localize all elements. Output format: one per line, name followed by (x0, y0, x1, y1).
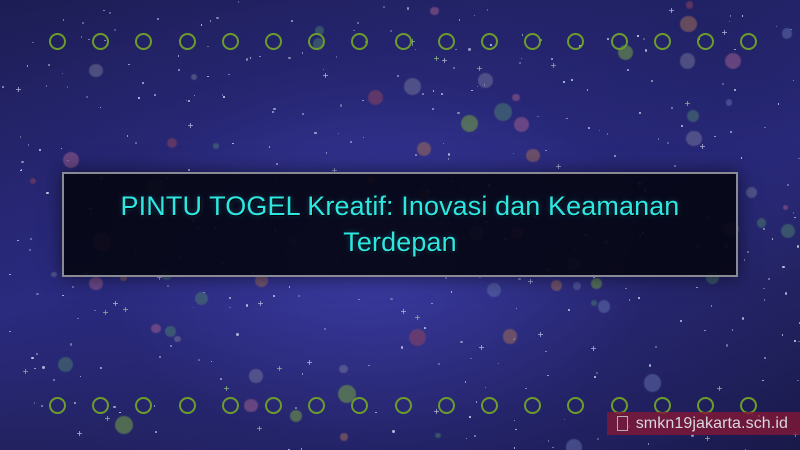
star-dot (357, 22, 359, 24)
decorative-ring (740, 33, 757, 50)
title-card: PINTU TOGEL Kreatif: Inovasi dan Keamana… (62, 172, 738, 277)
star-dot (793, 80, 795, 82)
star-dot (649, 364, 651, 366)
star-dot (48, 64, 50, 66)
star-dot (714, 136, 716, 138)
star-dot (314, 132, 316, 134)
star-dot (128, 64, 130, 66)
sparkle-icon (123, 307, 128, 312)
star-dot (674, 165, 676, 167)
star-dot (599, 130, 601, 132)
star-dot (782, 334, 784, 336)
star-dot (250, 57, 252, 59)
star-dot (741, 157, 743, 159)
sparkle-icon (591, 346, 596, 351)
star-dot (778, 103, 780, 105)
star-dot (194, 95, 196, 97)
sparkle-icon (717, 386, 722, 391)
sparkle-icon (669, 8, 674, 13)
sparkle-icon (685, 101, 690, 106)
star-dot (138, 97, 140, 99)
star-dot (431, 303, 433, 305)
bokeh-dot (680, 16, 696, 32)
star-dot (127, 135, 129, 137)
star-dot (726, 344, 728, 346)
title-line-1: PINTU TOGEL Kreatif: Inovasi dan Keamana… (121, 191, 680, 221)
decorative-ring (524, 33, 541, 50)
star-dot (671, 107, 673, 109)
star-dot (323, 69, 325, 71)
star-dot (201, 24, 203, 26)
star-dot (794, 340, 796, 342)
bokeh-dot (573, 282, 581, 290)
bokeh-dot (249, 369, 263, 383)
star-dot (552, 447, 554, 449)
star-dot (448, 153, 450, 155)
star-dot (460, 341, 462, 343)
star-dot (730, 15, 732, 17)
bokeh-dot (63, 152, 80, 169)
star-dot (228, 74, 230, 76)
sparkle-icon (401, 309, 406, 314)
bokeh-dot (598, 300, 611, 313)
decorative-ring (351, 33, 368, 50)
bokeh-dot (195, 292, 208, 305)
star-dot (547, 375, 549, 377)
star-dot (790, 29, 792, 31)
star-dot (273, 295, 275, 297)
bokeh-dot (512, 94, 520, 102)
star-dot (798, 158, 800, 160)
star-dot (521, 58, 523, 60)
watermark-label: smkn19jakarta.sch.id (636, 415, 788, 433)
star-dot (390, 30, 392, 32)
star-dot (629, 299, 631, 301)
star-dot (696, 287, 698, 289)
sparkle-icon (434, 56, 439, 61)
star-dot (566, 118, 568, 120)
star-dot (443, 143, 445, 145)
star-dot (785, 292, 787, 294)
star-dot (157, 18, 159, 20)
bokeh-dot (461, 115, 478, 132)
decorative-ring (567, 397, 584, 414)
star-dot (614, 155, 616, 157)
bokeh-dot (686, 1, 693, 8)
star-dot (651, 80, 653, 82)
star-dot (680, 320, 682, 322)
star-dot (485, 387, 487, 389)
bokeh-dot (167, 138, 177, 148)
star-dot (587, 89, 589, 91)
bokeh-dot (89, 64, 102, 77)
star-dot (21, 161, 23, 163)
star-dot (216, 17, 218, 19)
star-dot (31, 357, 33, 359)
star-dot (67, 160, 69, 162)
sparkle-icon (113, 301, 118, 306)
star-dot (466, 438, 468, 440)
watermark-badge: smkn19jakarta.sch.id (607, 412, 800, 435)
star-dot (326, 152, 328, 154)
sparkle-icon (277, 366, 282, 371)
decorative-ring (135, 33, 152, 50)
star-dot (658, 138, 660, 140)
sparkle-icon (415, 315, 420, 320)
star-dot (401, 346, 403, 348)
star-dot (392, 430, 394, 432)
star-dot (155, 431, 157, 433)
star-dot (21, 169, 23, 171)
star-dot (563, 81, 565, 83)
star-dot (742, 15, 744, 17)
bokeh-dot (58, 357, 73, 372)
star-dot (742, 317, 744, 319)
star-dot (639, 112, 641, 114)
bokeh-dot (174, 336, 181, 343)
star-dot (142, 82, 144, 84)
star-dot (513, 338, 515, 340)
star-dot (86, 96, 88, 98)
star-dot (487, 9, 489, 11)
bokeh-dot (478, 73, 493, 88)
decorative-ring (567, 33, 584, 50)
star-dot (170, 345, 172, 347)
star-dot (519, 62, 521, 64)
star-dot (424, 327, 426, 329)
decorative-ring (92, 33, 109, 50)
sparkle-icon (551, 63, 556, 68)
star-dot (363, 137, 365, 139)
bokeh-dot (686, 131, 702, 147)
star-dot (763, 228, 765, 230)
star-dot (178, 69, 180, 71)
star-dot (787, 184, 789, 186)
decorative-ring (654, 33, 671, 50)
star-dot (498, 363, 500, 365)
sparkle-icon (556, 164, 561, 169)
star-dot (545, 150, 547, 152)
star-dot (63, 19, 65, 21)
star-dot (471, 90, 473, 92)
star-dot (776, 26, 778, 28)
slide-canvas: PINTU TOGEL Kreatif: Inovasi dan Keamana… (0, 0, 800, 450)
star-dot (220, 378, 222, 380)
star-dot (36, 353, 38, 355)
sparkle-icon (258, 301, 263, 306)
star-dot (438, 363, 440, 365)
star-dot (516, 308, 518, 310)
star-dot (288, 57, 290, 59)
ring-row-top (0, 33, 800, 55)
star-dot (211, 361, 213, 363)
star-dot (53, 379, 55, 381)
document-tofu-icon (617, 416, 628, 431)
star-dot (186, 100, 188, 102)
star-dot (441, 93, 443, 95)
star-dot (27, 65, 29, 67)
star-dot (548, 440, 550, 442)
star-dot (484, 84, 486, 86)
decorative-ring (308, 397, 325, 414)
bokeh-dot (417, 142, 431, 156)
star-dot (70, 343, 72, 345)
sparkle-icon (705, 436, 710, 441)
star-dot (238, 1, 240, 3)
decorative-ring (524, 397, 541, 414)
star-dot (518, 278, 520, 280)
bokeh-dot (151, 324, 161, 334)
star-dot (362, 100, 364, 102)
star-dot (474, 435, 476, 437)
decorative-ring (222, 397, 239, 414)
star-dot (648, 443, 650, 445)
sparkle-icon (257, 426, 262, 431)
slide-title: PINTU TOGEL Kreatif: Inovasi dan Keamana… (107, 189, 694, 260)
bokeh-dot (757, 218, 766, 227)
star-dot (681, 125, 683, 127)
sparkle-icon (477, 66, 482, 71)
star-dot (597, 438, 599, 440)
bokeh-dot (680, 53, 695, 68)
bokeh-dot (726, 99, 732, 105)
sparkle-icon (103, 310, 108, 315)
star-dot (415, 154, 417, 156)
star-dot (525, 388, 527, 390)
star-dot (350, 141, 352, 143)
star-dot (453, 67, 455, 69)
star-dot (730, 131, 732, 133)
star-dot (338, 133, 340, 135)
star-dot (100, 107, 102, 109)
bokeh-dot (514, 117, 529, 132)
star-dot (764, 299, 766, 301)
star-dot (178, 55, 180, 57)
star-dot (77, 318, 79, 320)
star-dot (30, 238, 32, 240)
star-dot (207, 76, 209, 78)
star-dot (358, 299, 360, 301)
bokeh-dot (51, 272, 56, 277)
title-line-2: Terdepan (343, 227, 456, 257)
star-dot (276, 163, 278, 165)
star-dot (291, 20, 293, 22)
star-dot (229, 307, 231, 309)
star-dot (638, 297, 640, 299)
decorative-ring (395, 33, 412, 50)
star-dot (459, 19, 461, 21)
bokeh-dot (591, 278, 602, 289)
star-dot (797, 245, 799, 247)
star-dot (246, 58, 248, 60)
star-dot (259, 56, 261, 58)
star-dot (470, 358, 472, 360)
star-dot (29, 249, 31, 251)
star-dot (368, 365, 370, 367)
bokeh-dot (409, 329, 426, 346)
star-dot (46, 192, 48, 194)
star-dot (94, 310, 96, 312)
sparkle-icon (16, 87, 21, 92)
bokeh-dot (526, 149, 540, 163)
star-dot (298, 295, 300, 297)
bokeh-dot (644, 374, 662, 392)
decorative-ring (49, 33, 66, 50)
bokeh-dot (213, 143, 219, 149)
star-dot (39, 149, 41, 151)
star-dot (732, 329, 734, 331)
bokeh-dot (746, 187, 757, 198)
star-dot (62, 73, 64, 75)
sparkle-icon (528, 279, 533, 284)
star-dot (537, 116, 539, 118)
decorative-ring (481, 397, 498, 414)
bokeh-dot (566, 439, 583, 450)
star-dot (17, 240, 19, 242)
star-dot (627, 69, 629, 71)
bokeh-dot (191, 74, 197, 80)
star-dot (764, 127, 766, 129)
star-dot (2, 86, 4, 88)
star-dot (514, 420, 516, 422)
star-dot (794, 217, 796, 219)
star-dot (302, 113, 304, 115)
star-dot (704, 330, 706, 332)
star-dot (457, 112, 459, 114)
decorative-ring (481, 33, 498, 50)
star-dot (20, 170, 22, 172)
decorative-ring (697, 33, 714, 50)
star-dot (273, 108, 275, 110)
star-dot (340, 104, 342, 106)
sparkle-icon (23, 369, 28, 374)
star-dot (545, 351, 547, 353)
decorative-ring (92, 397, 109, 414)
star-dot (445, 277, 447, 279)
decorative-ring (308, 33, 325, 50)
star-dot (193, 307, 195, 309)
star-dot (768, 278, 770, 280)
star-dot (203, 292, 205, 294)
star-dot (667, 142, 669, 144)
star-dot (46, 85, 48, 87)
bokeh-dot (494, 103, 512, 121)
star-dot (9, 274, 11, 276)
star-dot (514, 447, 516, 449)
bokeh-dot (781, 224, 795, 238)
bokeh-dot (687, 110, 699, 122)
star-dot (67, 86, 69, 88)
star-dot (246, 304, 248, 306)
decorative-ring (179, 397, 196, 414)
star-dot (324, 328, 326, 330)
star-dot (82, 22, 84, 24)
star-dot (407, 7, 409, 9)
star-dot (198, 359, 200, 361)
star-dot (103, 10, 105, 12)
bokeh-dot (783, 205, 788, 210)
star-dot (734, 89, 736, 91)
decorative-ring (438, 33, 455, 50)
sparkle-icon (700, 144, 705, 149)
star-dot (793, 212, 795, 214)
star-dot (154, 94, 156, 96)
decorative-ring (438, 397, 455, 414)
star-dot (588, 127, 590, 129)
star-dot (232, 143, 234, 145)
decorative-ring (351, 397, 368, 414)
star-dot (722, 83, 724, 85)
star-dot (229, 297, 231, 299)
bokeh-dot (430, 7, 439, 16)
star-dot (109, 12, 111, 14)
star-dot (272, 111, 274, 113)
sparkle-icon (307, 360, 312, 365)
star-dot (474, 15, 476, 17)
star-dot (28, 144, 30, 146)
decorative-ring (222, 33, 239, 50)
star-dot (451, 291, 453, 293)
star-dot (432, 108, 434, 110)
star-dot (9, 331, 11, 333)
star-dot (188, 169, 190, 171)
star-dot (729, 21, 731, 23)
star-dot (61, 148, 63, 150)
star-dot (72, 286, 74, 288)
star-dot (594, 376, 596, 378)
bokeh-dot (591, 300, 598, 307)
star-dot (34, 368, 36, 370)
star-dot (433, 90, 435, 92)
star-dot (772, 238, 774, 240)
star-dot (571, 79, 573, 81)
bokeh-dot (165, 326, 176, 337)
star-dot (188, 100, 190, 102)
decorative-ring (135, 397, 152, 414)
sparkle-icon (479, 345, 484, 350)
bokeh-dot (551, 280, 562, 291)
star-dot (744, 259, 746, 261)
star-dot (448, 158, 450, 160)
star-dot (568, 309, 570, 311)
star-dot (465, 381, 467, 383)
star-dot (762, 380, 764, 382)
bokeh-dot (404, 78, 421, 95)
bokeh-dot (30, 178, 37, 185)
bokeh-dot (89, 277, 103, 291)
star-dot (80, 376, 82, 378)
decorative-ring (265, 33, 282, 50)
star-dot (223, 96, 225, 98)
bokeh-dot (339, 365, 348, 374)
star-dot (236, 333, 238, 335)
star-dot (477, 86, 479, 88)
star-dot (797, 380, 799, 382)
star-dot (135, 142, 137, 144)
star-dot (210, 20, 212, 22)
star-dot (763, 288, 765, 290)
star-dot (782, 266, 784, 268)
star-dot (36, 293, 38, 295)
star-dot (289, 286, 291, 288)
star-dot (397, 75, 399, 77)
bokeh-dot (725, 53, 741, 69)
star-dot (625, 288, 627, 290)
sparkle-icon (323, 73, 328, 78)
bokeh-dot (368, 90, 383, 105)
decorative-ring (49, 397, 66, 414)
decorative-ring (179, 33, 196, 50)
